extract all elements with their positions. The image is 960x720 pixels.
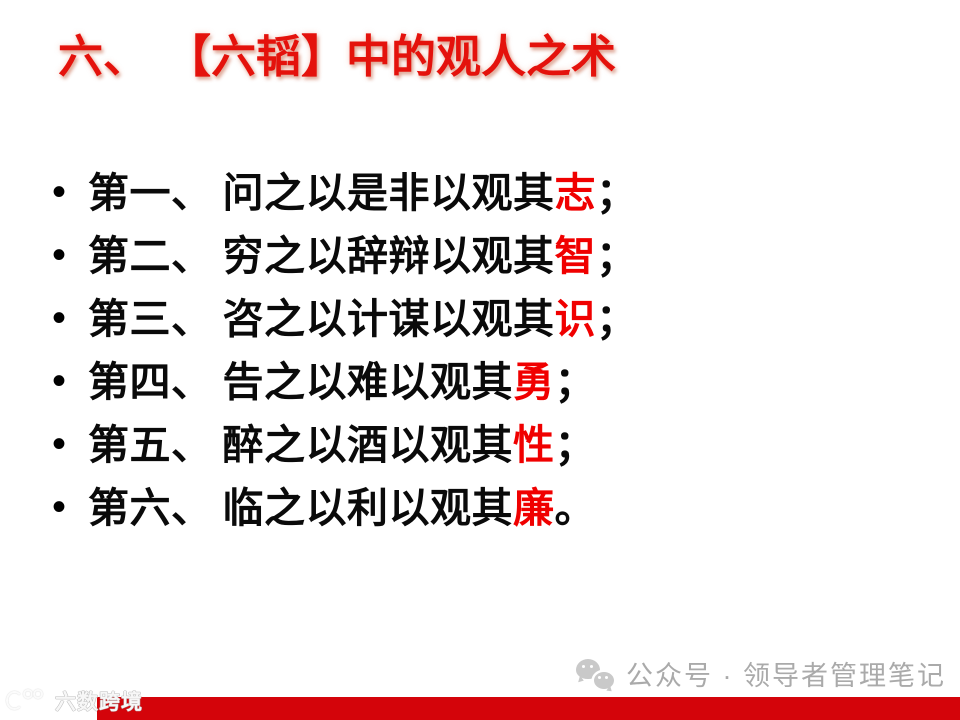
- list-item-text: 第五、醉之以酒以观其性；: [88, 424, 596, 467]
- list-item-text: 第一、问之以是非以观其志；: [88, 172, 638, 215]
- list-item-prefix: 第二、: [88, 233, 213, 279]
- list-item-prefix: 第六、: [88, 485, 213, 531]
- list-item-highlight: 廉: [513, 485, 555, 531]
- list-item: 第六、临之以利以观其廉。: [52, 487, 902, 550]
- watermark-arc-shape: [6, 691, 23, 710]
- page-title: 六、【六韬】中的观人之术: [58, 32, 616, 82]
- list-item-punct: ；: [596, 170, 638, 216]
- list-item-highlight: 志: [555, 170, 597, 216]
- slide-canvas: 六、【六韬】中的观人之术 第一、问之以是非以观其志； 第二、穷之以辞辩以观其智；…: [0, 0, 960, 720]
- list-item: 第四、告之以难以观其勇；: [52, 361, 902, 424]
- bullet-point-icon: [52, 487, 88, 527]
- page-title-main: 【六韬】中的观人之术: [166, 31, 616, 82]
- list-item-text: 第二、穷之以辞辩以观其智；: [88, 235, 638, 278]
- wechat-bubble-small: [594, 672, 614, 689]
- wechat-eye: [590, 665, 593, 668]
- list-item-prefix: 第一、: [88, 170, 213, 216]
- footer-brand-text: 公众号 · 领导者管理笔记: [626, 654, 946, 693]
- page-title-index: 六、: [58, 31, 148, 82]
- list-item: 第二、穷之以辞辩以观其智；: [52, 235, 902, 298]
- list-item-punct: ；: [596, 233, 638, 279]
- list-item-text: 第六、临之以利以观其廉。: [88, 487, 596, 530]
- bullet-point-icon: [52, 298, 88, 338]
- list-item-punct: ；: [596, 296, 638, 342]
- bullet-point-icon: [52, 235, 88, 275]
- bullet-point-icon: [52, 361, 88, 401]
- list-item-text: 第四、告之以难以观其勇；: [88, 361, 596, 404]
- wechat-icon: [576, 659, 614, 689]
- footer-brand: 公众号 · 领导者管理笔记: [576, 654, 946, 693]
- footer-accent-bar: [97, 697, 960, 720]
- list-item-prefix: 第三、: [88, 296, 213, 342]
- watermark-circle-shape: [23, 689, 33, 699]
- list-item-highlight: 识: [555, 296, 597, 342]
- list-item-body: 穷之以辞辩以观其: [223, 233, 555, 279]
- list-item-highlight: 性: [513, 422, 555, 468]
- list-item-highlight: 智: [555, 233, 597, 279]
- list-item-body: 醉之以酒以观其: [223, 422, 514, 468]
- list-item-body: 咨之以计谋以观其: [223, 296, 555, 342]
- wechat-eye: [605, 676, 608, 679]
- list-item-highlight: 勇: [513, 359, 555, 405]
- list-item-prefix: 第四、: [88, 359, 213, 405]
- list-item: 第五、醉之以酒以观其性；: [52, 424, 902, 487]
- list-item-punct: ；: [555, 422, 597, 468]
- list-item-prefix: 第五、: [88, 422, 213, 468]
- list-item-text: 第三、咨之以计谋以观其识；: [88, 298, 638, 341]
- bullet-point-icon: [52, 172, 88, 212]
- list-item-body: 临之以利以观其: [223, 485, 514, 531]
- bullet-point-icon: [52, 424, 88, 464]
- watermark-logo-icon: [6, 689, 48, 713]
- list-item-body: 告之以难以观其: [223, 359, 514, 405]
- list-item: 第三、咨之以计谋以观其识；: [52, 298, 902, 361]
- watermark-circle-shape: [33, 689, 43, 699]
- list-item-punct: 。: [555, 485, 597, 531]
- list-item-body: 问之以是非以观其: [223, 170, 555, 216]
- wechat-eye: [582, 665, 585, 668]
- list-item-punct: ；: [555, 359, 597, 405]
- list-item: 第一、问之以是非以观其志；: [52, 172, 902, 235]
- bullet-list: 第一、问之以是非以观其志； 第二、穷之以辞辩以观其智； 第三、咨之以计谋以观其识…: [52, 172, 902, 550]
- wechat-eye: [598, 676, 601, 679]
